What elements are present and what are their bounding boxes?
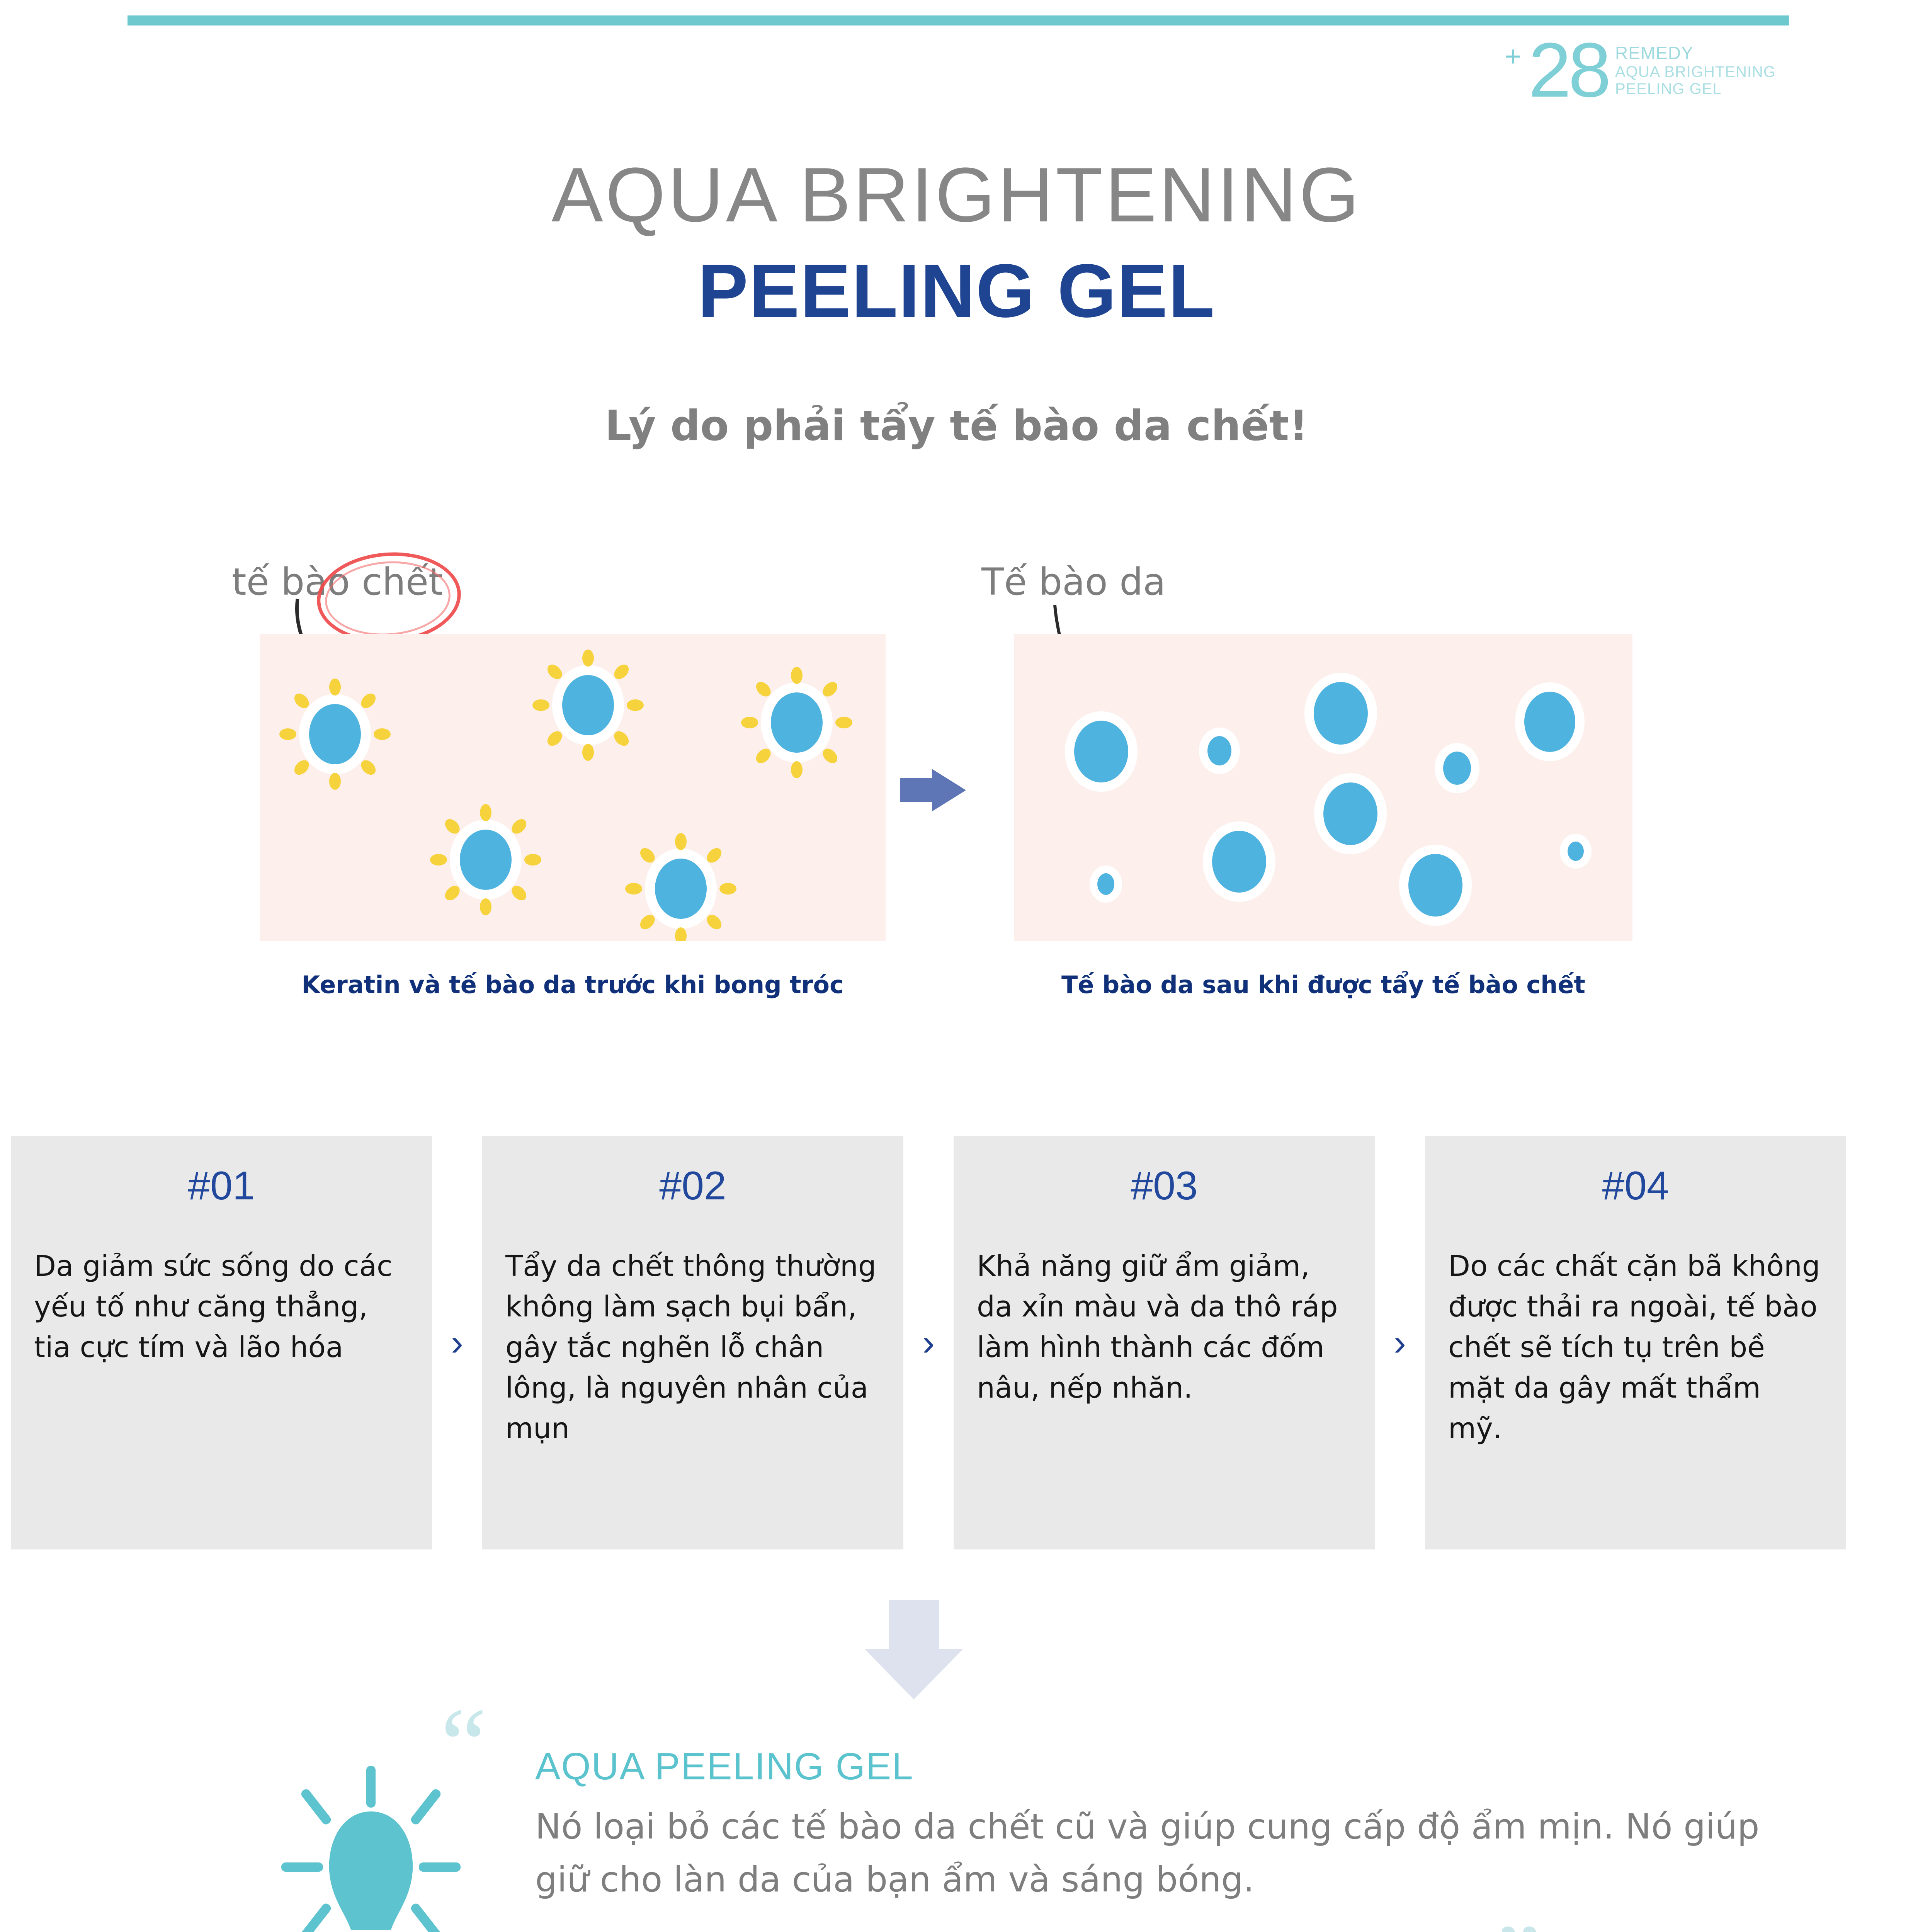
keratin-dot	[675, 927, 687, 941]
lightbulb-icon	[278, 1766, 464, 1932]
infographic-page: + 28 REMEDY AQUA BRIGHTENING PEELING GEL…	[0, 0, 1913, 1932]
card-number: #01	[34, 1163, 409, 1209]
brand-logo: + 28 REMEDY AQUA BRIGHTENING PEELING GEL	[1505, 39, 1776, 102]
keratin-dot	[675, 833, 687, 850]
keratin-dot	[524, 854, 541, 866]
skin-cell	[1568, 842, 1584, 861]
brand-line-3: PEELING GEL	[1615, 80, 1776, 98]
cell-core	[460, 830, 512, 890]
brand-number: 28	[1528, 39, 1608, 102]
keratin-dot	[430, 854, 447, 866]
skin-cell	[1443, 752, 1471, 785]
keratin-dot	[329, 773, 341, 790]
keratin-dot	[480, 898, 491, 915]
keratin-dot	[442, 883, 463, 903]
keratin-dot	[532, 699, 549, 711]
keratin-dot	[509, 883, 529, 903]
keratin-dot	[753, 679, 774, 699]
skin-cell	[1207, 736, 1231, 765]
reason-card-02: #02 Tẩy da chết thông thường không làm s…	[482, 1136, 903, 1549]
skin-cell	[1212, 831, 1266, 893]
keratin-cell	[746, 672, 847, 773]
page-subtitle: Lý do phải tẩy tế bào da chết!	[0, 402, 1913, 450]
keratin-dot	[358, 757, 378, 777]
card-text: Khả năng giữ ẩm giảm, da xỉn màu và da t…	[977, 1246, 1352, 1408]
bottom-section-body: Nó loại bỏ các tế bào da chết cũ và giúp…	[535, 1801, 1810, 1906]
chevron-right-icon: ›	[432, 1136, 482, 1549]
keratin-dot	[625, 883, 642, 895]
card-text: Tẩy da chết thông thường không làm sạch …	[505, 1246, 880, 1449]
brand-line-2: AQUA BRIGHTENING	[1615, 63, 1776, 81]
keratin-dot	[820, 679, 840, 699]
keratin-dot	[509, 816, 529, 837]
skin-cell	[1524, 692, 1575, 752]
keratin-dot	[719, 883, 736, 895]
keratin-cell	[631, 838, 731, 939]
cell-core	[655, 859, 707, 919]
reason-card-04: #04 Do các chất cặn bã không được thải r…	[1425, 1136, 1846, 1549]
caption-before: Keratin và tế bào da trước khi bong tróc	[260, 971, 886, 999]
keratin-dot	[292, 691, 312, 711]
keratin-dot	[704, 912, 724, 932]
card-text: Do các chất cặn bã không được thải ra ng…	[1448, 1246, 1823, 1449]
keratin-dot	[545, 728, 565, 748]
keratin-dot	[292, 757, 312, 777]
keratin-dot	[611, 728, 631, 748]
card-number: #02	[505, 1163, 880, 1209]
brand-wordmark: REMEDY AQUA BRIGHTENING PEELING GEL	[1615, 43, 1776, 98]
panel-after-peeling	[1014, 634, 1632, 941]
chevron-right-icon: ›	[1375, 1136, 1425, 1549]
skin-cell-label: Tế bào da	[981, 560, 1166, 604]
keratin-cell	[538, 655, 638, 755]
card-text: Da giảm sức sống do các yếu tố như căng …	[34, 1246, 409, 1368]
quote-close-icon: ”	[1495, 1909, 1542, 1932]
keratin-dot	[545, 662, 565, 682]
reason-card-03: #03 Khả năng giữ ẩm giảm, da xỉn màu và …	[954, 1136, 1375, 1549]
skin-cell	[1408, 854, 1462, 917]
cell-core	[562, 675, 614, 735]
headline-primary: AQUA BRIGHTENING	[0, 151, 1913, 240]
panel-before-peeling	[260, 634, 886, 941]
keratin-dot	[835, 717, 852, 728]
skin-cell	[1314, 682, 1368, 745]
keratin-dot	[753, 746, 774, 766]
keratin-cell	[435, 810, 536, 910]
keratin-dot	[638, 912, 658, 932]
skin-cell	[1074, 721, 1128, 782]
keratin-dot	[374, 728, 391, 740]
top-accent-bar	[128, 15, 1789, 26]
keratin-dot	[791, 667, 803, 684]
keratin-dot	[611, 662, 631, 682]
brand-line-1: REMEDY	[1615, 43, 1776, 63]
keratin-dot	[442, 816, 463, 837]
keratin-dot	[480, 804, 491, 821]
keratin-dot	[820, 746, 840, 766]
card-number: #04	[1448, 1163, 1823, 1209]
cell-core	[309, 704, 361, 764]
keratin-dot	[358, 691, 378, 711]
keratin-dot	[704, 845, 724, 866]
card-number: #03	[977, 1163, 1352, 1209]
bottom-section-title: AQUA PEELING GEL	[535, 1745, 914, 1788]
keratin-dot	[582, 744, 594, 761]
keratin-dot	[329, 679, 341, 696]
caption-after: Tế bào da sau khi được tẩy tế bào chết	[1014, 971, 1632, 999]
headline-secondary: PEELING GEL	[0, 247, 1913, 334]
cell-core	[771, 692, 823, 753]
keratin-dot	[791, 761, 803, 778]
chevron-right-icon: ›	[903, 1136, 954, 1549]
skin-cell	[1097, 873, 1114, 895]
keratin-dot	[582, 650, 594, 667]
skin-cell	[1323, 782, 1377, 845]
brand-plus-symbol: +	[1505, 46, 1521, 67]
keratin-dot	[638, 845, 658, 866]
keratin-cell	[285, 684, 385, 784]
reason-cards-row: #01 Da giảm sức sống do các yếu tố như c…	[11, 1136, 1904, 1549]
reason-card-01: #01 Da giảm sức sống do các yếu tố như c…	[11, 1136, 432, 1549]
keratin-dot	[627, 699, 644, 711]
keratin-dot	[279, 728, 296, 740]
keratin-dot	[741, 717, 758, 728]
